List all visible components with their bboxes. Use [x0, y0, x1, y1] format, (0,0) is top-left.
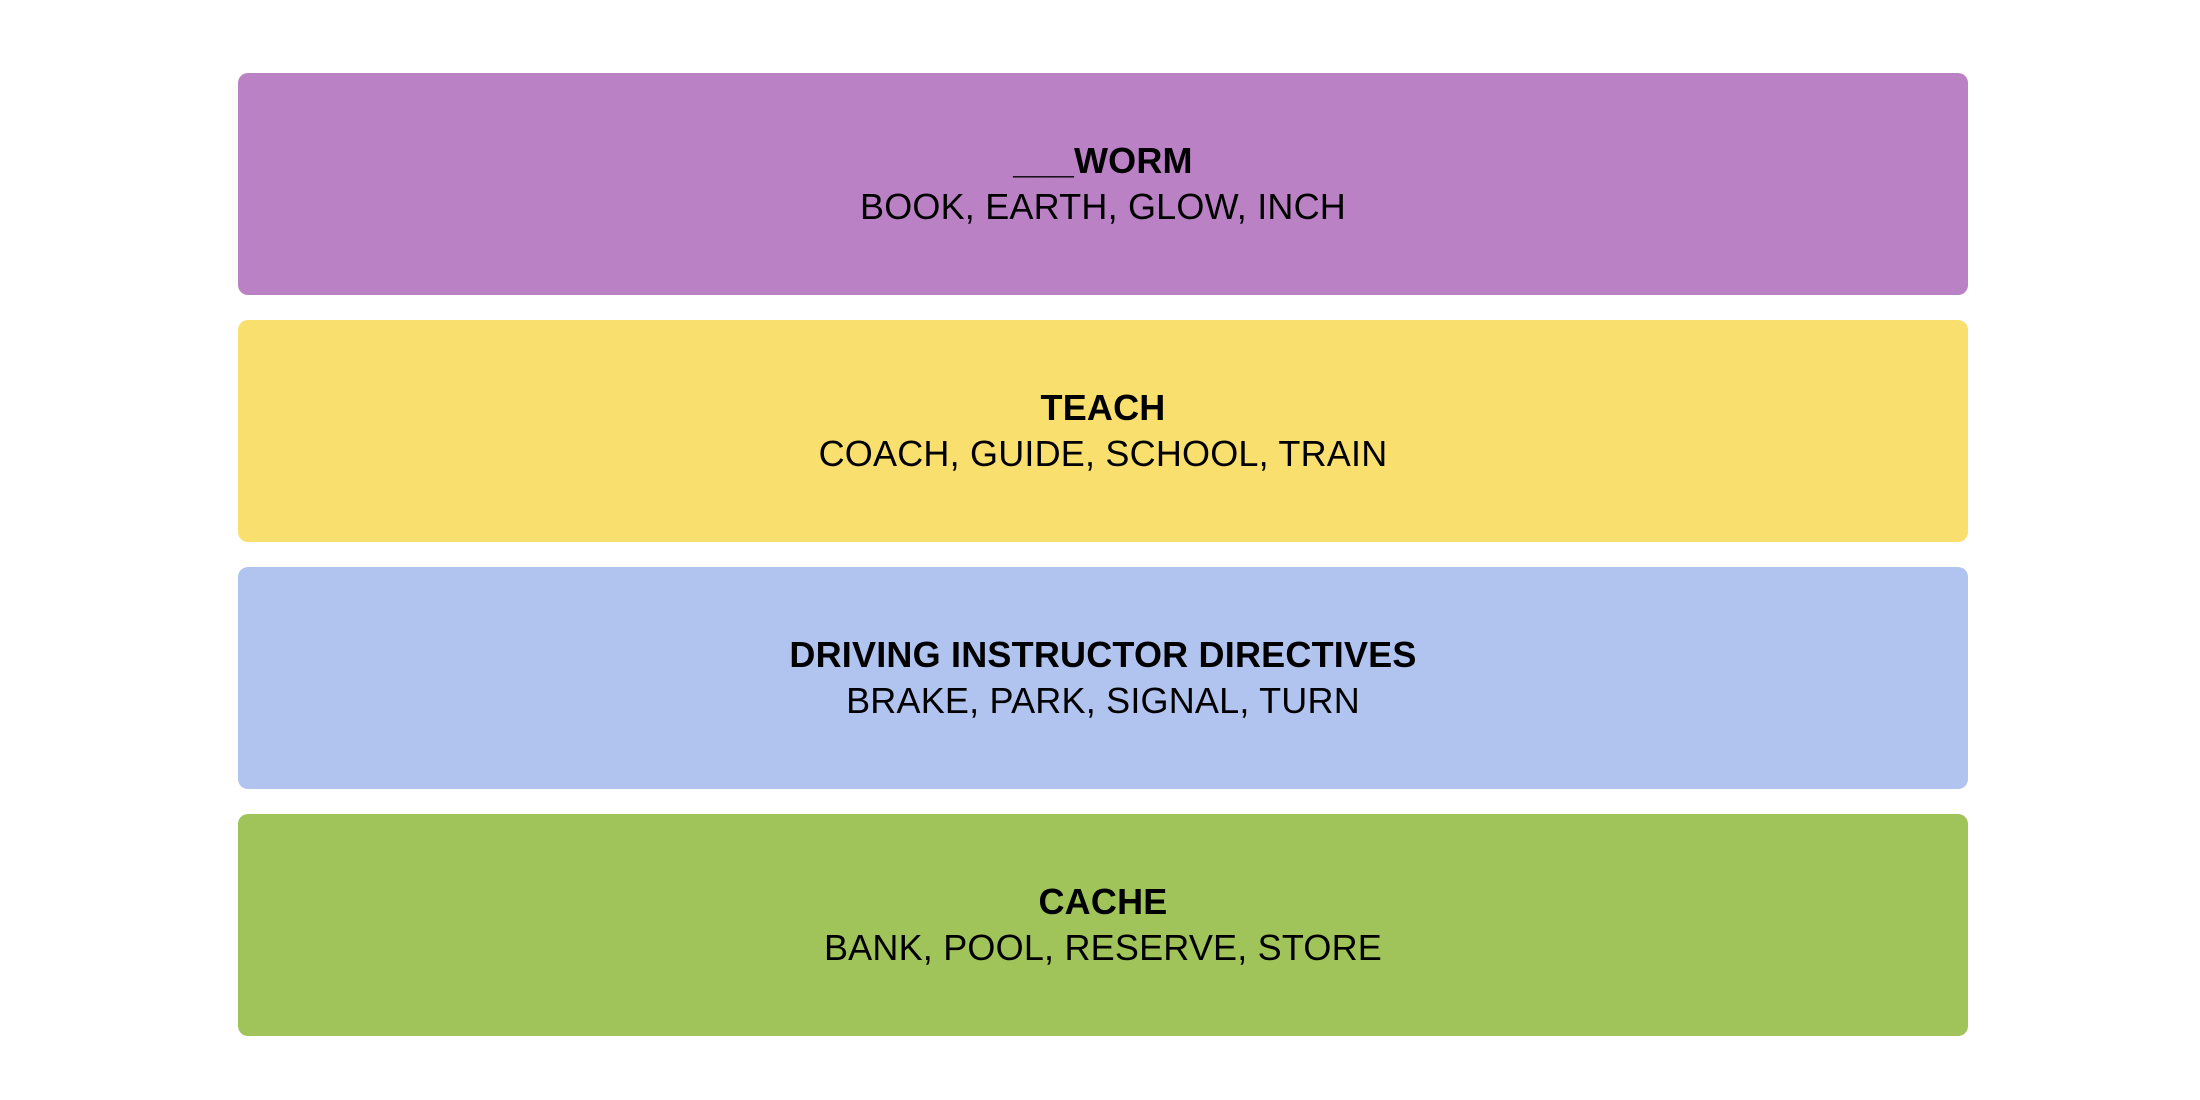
category-card-yellow[interactable]: TEACH COACH, GUIDE, SCHOOL, TRAIN	[238, 320, 1968, 542]
category-title: CACHE	[1038, 881, 1167, 923]
category-card-blue[interactable]: DRIVING INSTRUCTOR DIRECTIVES BRAKE, PAR…	[238, 567, 1968, 789]
category-card-purple[interactable]: ___WORM BOOK, EARTH, GLOW, INCH	[238, 73, 1968, 295]
connections-solution-board: ___WORM BOOK, EARTH, GLOW, INCH TEACH CO…	[238, 73, 1968, 1036]
category-title: TEACH	[1041, 387, 1166, 429]
category-card-green[interactable]: CACHE BANK, POOL, RESERVE, STORE	[238, 814, 1968, 1036]
category-members: COACH, GUIDE, SCHOOL, TRAIN	[819, 433, 1388, 475]
category-members: BRAKE, PARK, SIGNAL, TURN	[846, 680, 1360, 722]
category-title: ___WORM	[1013, 140, 1192, 182]
category-members: BOOK, EARTH, GLOW, INCH	[860, 186, 1346, 228]
category-title: DRIVING INSTRUCTOR DIRECTIVES	[789, 634, 1416, 676]
category-members: BANK, POOL, RESERVE, STORE	[824, 927, 1382, 969]
